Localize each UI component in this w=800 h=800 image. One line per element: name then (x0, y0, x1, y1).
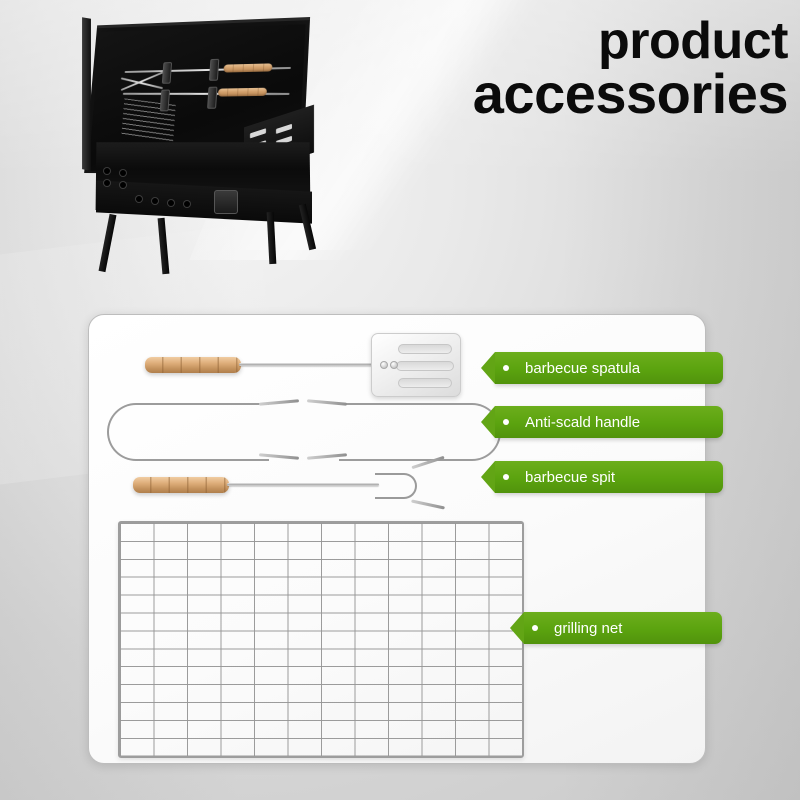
callout-label: Anti-scald handle (525, 414, 640, 431)
skewer-clip (162, 62, 172, 84)
grill-leg (158, 218, 170, 274)
spatula-blade (371, 333, 461, 397)
title-line-1: product (440, 16, 788, 67)
wire-clamp-left (107, 403, 269, 461)
spatula-slot (396, 361, 454, 371)
wire-clamp-tip (307, 399, 347, 405)
grill-leg (299, 204, 316, 250)
dot-icon (503, 365, 509, 371)
spit-wood-handle (133, 477, 229, 493)
spit-rod (227, 483, 379, 486)
dot-icon (503, 419, 509, 425)
page-title: product accessories (440, 16, 788, 122)
wire-clamp-right (339, 403, 501, 461)
spatula-rivet (380, 361, 388, 369)
callout-anti-scald-handle[interactable]: Anti-scald handle (495, 406, 723, 438)
grilling-net (118, 521, 524, 758)
skewer-wood-handle (218, 88, 267, 97)
callout-label: barbecue spatula (525, 360, 640, 377)
callout-label: grilling net (554, 620, 622, 637)
skewer-clip (160, 90, 170, 112)
callout-grilling-net[interactable]: grilling net (524, 612, 722, 644)
infographic-canvas: product accessories (0, 0, 800, 800)
wire-clamp-tip (259, 399, 299, 405)
spatula-wood-handle (145, 357, 241, 373)
spatula-slot (398, 378, 452, 388)
spit-prong-tip (411, 499, 445, 509)
callout-label: barbecue spit (525, 469, 615, 486)
title-line-2: accessories (440, 67, 788, 122)
spatula-slot (398, 344, 452, 354)
skewer-clip (207, 87, 217, 109)
callout-barbecue-spatula[interactable]: barbecue spatula (495, 352, 723, 384)
skewer-wood-handle (223, 63, 272, 72)
grill-lid-edge (82, 17, 91, 171)
skewer-clip (209, 59, 219, 81)
grill-latch (214, 190, 238, 214)
dot-icon (532, 625, 538, 631)
bbq-grill-icon (68, 18, 338, 273)
callout-barbecue-spit[interactable]: barbecue spit (495, 461, 723, 493)
spit-fork-icon (375, 473, 417, 499)
dot-icon (503, 474, 509, 480)
spatula-rivet (390, 361, 398, 369)
grill-leg (99, 214, 117, 272)
